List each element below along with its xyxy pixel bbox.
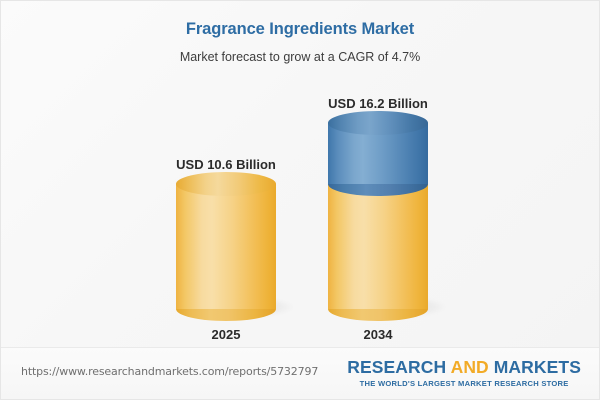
report-url[interactable]: https://www.researchandmarkets.com/repor… xyxy=(21,365,318,378)
logo-tagline: THE WORLD'S LARGEST MARKET RESEARCH STOR… xyxy=(347,379,581,388)
bar-group-2025: USD 10.6 Billion 2025 xyxy=(176,184,276,309)
cylinder-top-ellipse xyxy=(176,172,276,196)
cylinder-body xyxy=(176,184,276,309)
cylinder-top-ellipse xyxy=(328,111,428,135)
cylinder-segment-base-2034 xyxy=(328,184,428,309)
cylinder-2025[interactable] xyxy=(176,184,276,309)
logo-wordmark: RESEARCH AND MARKETS xyxy=(347,357,581,377)
logo-markets-text: MARKETS xyxy=(489,357,581,377)
chart-footer: https://www.researchandmarkets.com/repor… xyxy=(1,347,599,399)
value-label-2025: USD 10.6 Billion xyxy=(126,157,326,172)
cylinder-segment-base-2025 xyxy=(176,184,276,309)
cylinder-2034[interactable] xyxy=(328,123,428,309)
research-and-markets-logo[interactable]: RESEARCH AND MARKETS THE WORLD'S LARGEST… xyxy=(347,357,581,388)
category-label-2034: 2034 xyxy=(278,327,478,342)
value-label-2034: USD 16.2 Billion xyxy=(278,96,478,111)
bar-group-2034: USD 16.2 Billion 2034 xyxy=(328,123,428,309)
logo-research-text: RESEARCH xyxy=(347,357,450,377)
chart-plot-area: USD 10.6 Billion 2025 USD 16.2 Billion xyxy=(1,1,600,349)
logo-and-text: AND xyxy=(451,357,489,377)
chart-card: Fragrance Ingredients Market Market fore… xyxy=(0,0,600,400)
cylinder-body xyxy=(328,184,428,309)
cylinder-segment-growth-2034 xyxy=(328,123,428,184)
